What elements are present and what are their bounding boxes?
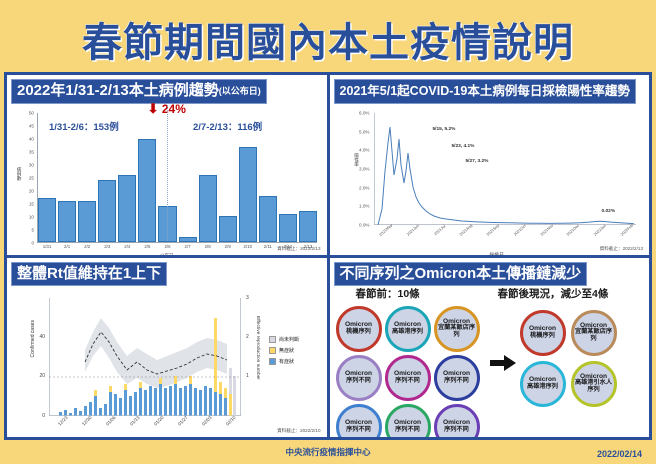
panel-title-main: 2022年1/31-2/13本土病例趨勢 bbox=[17, 82, 219, 99]
cases-ytick: 10 bbox=[29, 215, 34, 220]
panel-grid: 2022年1/31-2/13本土病例趨勢(以公布日) ⬇ 24% 1/31-2/… bbox=[4, 72, 652, 440]
cases-bar bbox=[259, 196, 277, 242]
chain-label-sequence: 序列不同 bbox=[444, 378, 469, 385]
rt-xtick: 02/10 bbox=[225, 414, 237, 426]
cases-bar-group: 2/2 bbox=[78, 113, 96, 242]
cases-bar bbox=[199, 175, 217, 242]
footer-organization: 中央流行疫情指揮中心 bbox=[0, 440, 656, 464]
week-divider-line bbox=[167, 105, 168, 243]
rt-ytick-left: 40 bbox=[39, 334, 45, 340]
chain-circle-after: Omicron高雄港引水人序列 bbox=[571, 361, 617, 407]
rt-xtick: 01/20 bbox=[153, 414, 165, 426]
rt-ytick-right: 1 bbox=[246, 373, 249, 379]
rt-ylabel-right: Effective reproduction number bbox=[255, 316, 260, 380]
positivity-ytick: 0.0% bbox=[359, 223, 369, 228]
positivity-label-peak3: 5/27, 3.2% bbox=[466, 159, 489, 164]
positivity-ytick: 1.0% bbox=[359, 204, 369, 209]
positivity-line-plot: 6.0%5.0%4.0%3.0%2.0%1.0%0.0% 2021May2021… bbox=[374, 113, 636, 225]
positivity-xtick: 2021Jul bbox=[432, 223, 445, 236]
cases-bar-group: 2/13 bbox=[299, 113, 317, 242]
cases-xtick: 2/2 bbox=[84, 244, 90, 249]
cases-xtick: 2/3 bbox=[104, 244, 110, 249]
positivity-ytick: 3.0% bbox=[359, 167, 369, 172]
cases-bar-group: 2/3 bbox=[98, 113, 116, 242]
cases-chart-xlabel: 公布日 bbox=[160, 253, 174, 255]
cases-bar-group: 2/5 bbox=[138, 113, 156, 242]
chains-before-group: Omicron桃機序列Omicron高雄港序列Omicron宜蘭某飯店序列Omi… bbox=[336, 306, 486, 438]
panel-title-sub: (以公布日) bbox=[219, 86, 261, 96]
rt-legend-swatch bbox=[269, 358, 276, 365]
rt-xtick: 02/03 bbox=[201, 414, 213, 426]
chain-circle-after: Omicron桃機序列 bbox=[520, 310, 566, 356]
cases-xtick: 2/8 bbox=[205, 244, 211, 249]
chain-label-sequence: 高雄港引水人序列 bbox=[574, 380, 614, 393]
rt-legend-item[interactable]: 無症狀 bbox=[269, 347, 299, 354]
cases-bar bbox=[299, 211, 317, 242]
cases-xtick: 2/6 bbox=[164, 244, 170, 249]
chain-label-sequence: 宜蘭某飯店序列 bbox=[574, 329, 614, 342]
cases-chart-ylabel: 病例數 bbox=[16, 167, 22, 181]
cases-ytick: 0 bbox=[31, 241, 34, 246]
chain-circle-before: Omicron宜蘭某飯店序列 bbox=[434, 306, 480, 352]
positivity-label-peak1: 5/15, 5.2% bbox=[433, 127, 456, 132]
rt-legend-swatch bbox=[269, 336, 276, 343]
rt-legend-label: 尚未判斷 bbox=[279, 336, 299, 343]
chain-label-sequence: 序列不同 bbox=[395, 378, 420, 385]
chain-label-sequence: 序列不同 bbox=[395, 427, 420, 434]
cases-xtick: 2/5 bbox=[144, 244, 150, 249]
rt-chart-svg bbox=[49, 298, 241, 416]
chains-heading-before: 春節前：10條 bbox=[356, 286, 420, 301]
rt-ylabel-left: Confirmed cases bbox=[30, 320, 36, 358]
rt-xtick: 12/30 bbox=[81, 414, 93, 426]
chain-label-sequence: 序列不同 bbox=[346, 427, 371, 434]
cases-bar-group: 2/4 bbox=[118, 113, 136, 242]
cases-ytick: 20 bbox=[29, 189, 34, 194]
positivity-label-peak2: 5/23, 4.1% bbox=[452, 144, 475, 149]
panel-title-chains: 不同序列之Omicron本土傳播鏈減少 bbox=[334, 262, 588, 287]
chain-circle-before: Omicron高雄港序列 bbox=[385, 306, 431, 352]
chain-label-sequence: 高雄港序列 bbox=[392, 329, 423, 336]
chain-circle-before: Omicron序列不同 bbox=[434, 404, 480, 438]
positivity-ytick: 6.0% bbox=[359, 111, 369, 116]
chain-label-sequence: 高雄港序列 bbox=[527, 384, 558, 391]
page-title: 春節期間國內本土疫情說明 bbox=[0, 8, 656, 70]
rt-chart-plot: 02040 123 12/2312/3001/0601/1301/2001/27… bbox=[49, 298, 241, 416]
cases-ytick: 35 bbox=[29, 150, 34, 155]
rt-chart-legend: 尚未判斷無症狀有症狀 bbox=[269, 336, 299, 365]
chain-circle-before: Omicron序列不同 bbox=[336, 355, 382, 401]
positivity-ytick: 5.0% bbox=[359, 129, 369, 134]
positivity-ytick: 2.0% bbox=[359, 185, 369, 190]
rt-xtick: 01/06 bbox=[105, 414, 117, 426]
chain-circle-before: Omicron序列不同 bbox=[336, 404, 382, 438]
cases-chart-source: 資料截止：2022/2/13 bbox=[277, 246, 320, 252]
chain-label-sequence: 桃機序列 bbox=[346, 329, 371, 336]
chain-circle-before: Omicron序列不同 bbox=[385, 355, 431, 401]
chain-label-sequence: 序列不同 bbox=[444, 427, 469, 434]
cases-xtick: 2/10 bbox=[244, 244, 253, 249]
rt-legend-item[interactable]: 有症狀 bbox=[269, 358, 299, 365]
chain-label-sequence: 序列不同 bbox=[346, 378, 371, 385]
chain-circle-after: Omicron高雄港序列 bbox=[520, 361, 566, 407]
panel-title-chains-text: 不同序列之Omicron本土傳播鏈減少 bbox=[340, 265, 582, 282]
cases-ytick: 40 bbox=[29, 137, 34, 142]
panel-rt-value: 整體Rt值維持在1上下 Confirmed cases Effective re… bbox=[7, 258, 327, 438]
cases-xtick: 2/4 bbox=[124, 244, 130, 249]
rt-ytick-left: 0 bbox=[42, 413, 45, 419]
positivity-ylabel: 陽性率 bbox=[354, 153, 360, 167]
panel-title-positivity: 2021年5/1起COVID-19本土病例每日採檢陽性率趨勢 bbox=[334, 79, 636, 104]
cases-bar bbox=[219, 216, 237, 242]
cases-ytick: 25 bbox=[29, 176, 34, 181]
footer-date: 2022/02/14 bbox=[597, 449, 642, 459]
cases-ytick: 45 bbox=[29, 124, 34, 129]
chain-label-sequence: 桃機序列 bbox=[530, 333, 555, 340]
rt-legend-label: 無症狀 bbox=[279, 347, 294, 354]
cases-bars: 1/312/12/22/32/42/52/62/72/82/92/102/112… bbox=[37, 113, 317, 243]
cases-bar bbox=[239, 147, 257, 242]
rt-source: 資料截止：2022/2/10 bbox=[277, 428, 320, 434]
right-arrow-icon bbox=[490, 354, 516, 372]
cases-xtick: 1/31 bbox=[43, 244, 52, 249]
positivity-ytick: 4.0% bbox=[359, 148, 369, 153]
cases-bar bbox=[78, 201, 96, 242]
panel-local-cases-trend: 2022年1/31-2/13本土病例趨勢(以公布日) ⬇ 24% 1/31-2/… bbox=[7, 75, 327, 255]
cases-bar bbox=[279, 214, 297, 242]
rt-ytick-left: 20 bbox=[39, 373, 45, 379]
cases-bar-group: 2/11 bbox=[259, 113, 277, 242]
chains-heading-after: 春節後現況，減少至4條 bbox=[498, 286, 609, 301]
cases-bar bbox=[118, 175, 136, 242]
chain-circle-before: Omicron序列不同 bbox=[434, 355, 480, 401]
cases-ytick: 50 bbox=[29, 111, 34, 116]
rt-ytick-right: 2 bbox=[246, 334, 249, 340]
cases-bar bbox=[179, 237, 197, 242]
rt-legend-swatch bbox=[269, 347, 276, 354]
positivity-xtick: 2021Jun bbox=[405, 223, 419, 237]
cases-bar-group: 2/9 bbox=[219, 113, 237, 242]
rt-legend-label: 有症狀 bbox=[279, 358, 294, 365]
cases-bar-group: 2/8 bbox=[199, 113, 217, 242]
cases-bar-group: 2/12 bbox=[279, 113, 297, 242]
positivity-xtick: 2022Jan bbox=[593, 223, 607, 237]
rt-legend-item[interactable]: 尚未判斷 bbox=[269, 336, 299, 343]
chains-after-group: Omicron桃機序列Omicron宜蘭某飯店序列Omicron高雄港序列Omi… bbox=[520, 310, 624, 407]
positivity-label-latest: 0.02% bbox=[602, 209, 616, 214]
positivity-xtick: 2021Oct bbox=[512, 223, 526, 237]
panel-omicron-chains: 不同序列之Omicron本土傳播鏈減少 春節前：10條 春節後現況，減少至4條 … bbox=[330, 258, 650, 438]
chain-circle-before: Omicron序列不同 bbox=[385, 404, 431, 438]
chain-circle-after: Omicron宜蘭某飯店序列 bbox=[571, 310, 617, 356]
cases-xtick: 2/1 bbox=[64, 244, 70, 249]
rt-ytick-right: 3 bbox=[246, 295, 249, 301]
cases-bar-group: 2/1 bbox=[58, 113, 76, 242]
cases-xtick: 2/7 bbox=[185, 244, 191, 249]
cases-bar bbox=[38, 198, 56, 242]
cases-ytick: 5 bbox=[31, 228, 34, 233]
cases-bar-group: 2/7 bbox=[179, 113, 197, 242]
chain-circle-before: Omicron桃機序列 bbox=[336, 306, 382, 352]
cases-bar bbox=[98, 180, 116, 242]
panel-title-rt: 整體Rt值維持在1上下 bbox=[11, 262, 167, 287]
cases-bar bbox=[58, 201, 76, 242]
positivity-source: 資料截止：2022/2/13 bbox=[600, 246, 643, 252]
cases-ytick: 30 bbox=[29, 163, 34, 168]
cases-bar-chart-plot: 05101520253035404550 1/312/12/22/32/42/5… bbox=[37, 113, 317, 243]
cases-bar-group: 1/31 bbox=[38, 113, 56, 242]
panel-title-rt-text: 整體Rt值維持在1上下 bbox=[17, 265, 161, 282]
cases-ytick: 15 bbox=[29, 202, 34, 207]
cases-bar bbox=[138, 139, 156, 242]
panel-title-positivity-text: 2021年5/1起COVID-19本土病例每日採檢陽性率趨勢 bbox=[340, 84, 630, 98]
rt-xtick: 12/23 bbox=[56, 414, 68, 426]
positivity-line-svg bbox=[374, 113, 636, 225]
cases-xtick: 2/11 bbox=[264, 244, 272, 249]
positivity-xlabel: 採檢日 bbox=[490, 251, 504, 255]
panel-positivity-rate: 2021年5/1起COVID-19本土病例每日採檢陽性率趨勢 陽性率 6.0%5… bbox=[330, 75, 650, 255]
cases-xtick: 2/9 bbox=[225, 244, 231, 249]
chain-label-sequence: 宜蘭某飯店序列 bbox=[437, 325, 477, 338]
rt-xtick: 01/27 bbox=[177, 414, 189, 426]
cases-bar-group: 2/10 bbox=[239, 113, 257, 242]
rt-xtick: 01/13 bbox=[129, 414, 141, 426]
